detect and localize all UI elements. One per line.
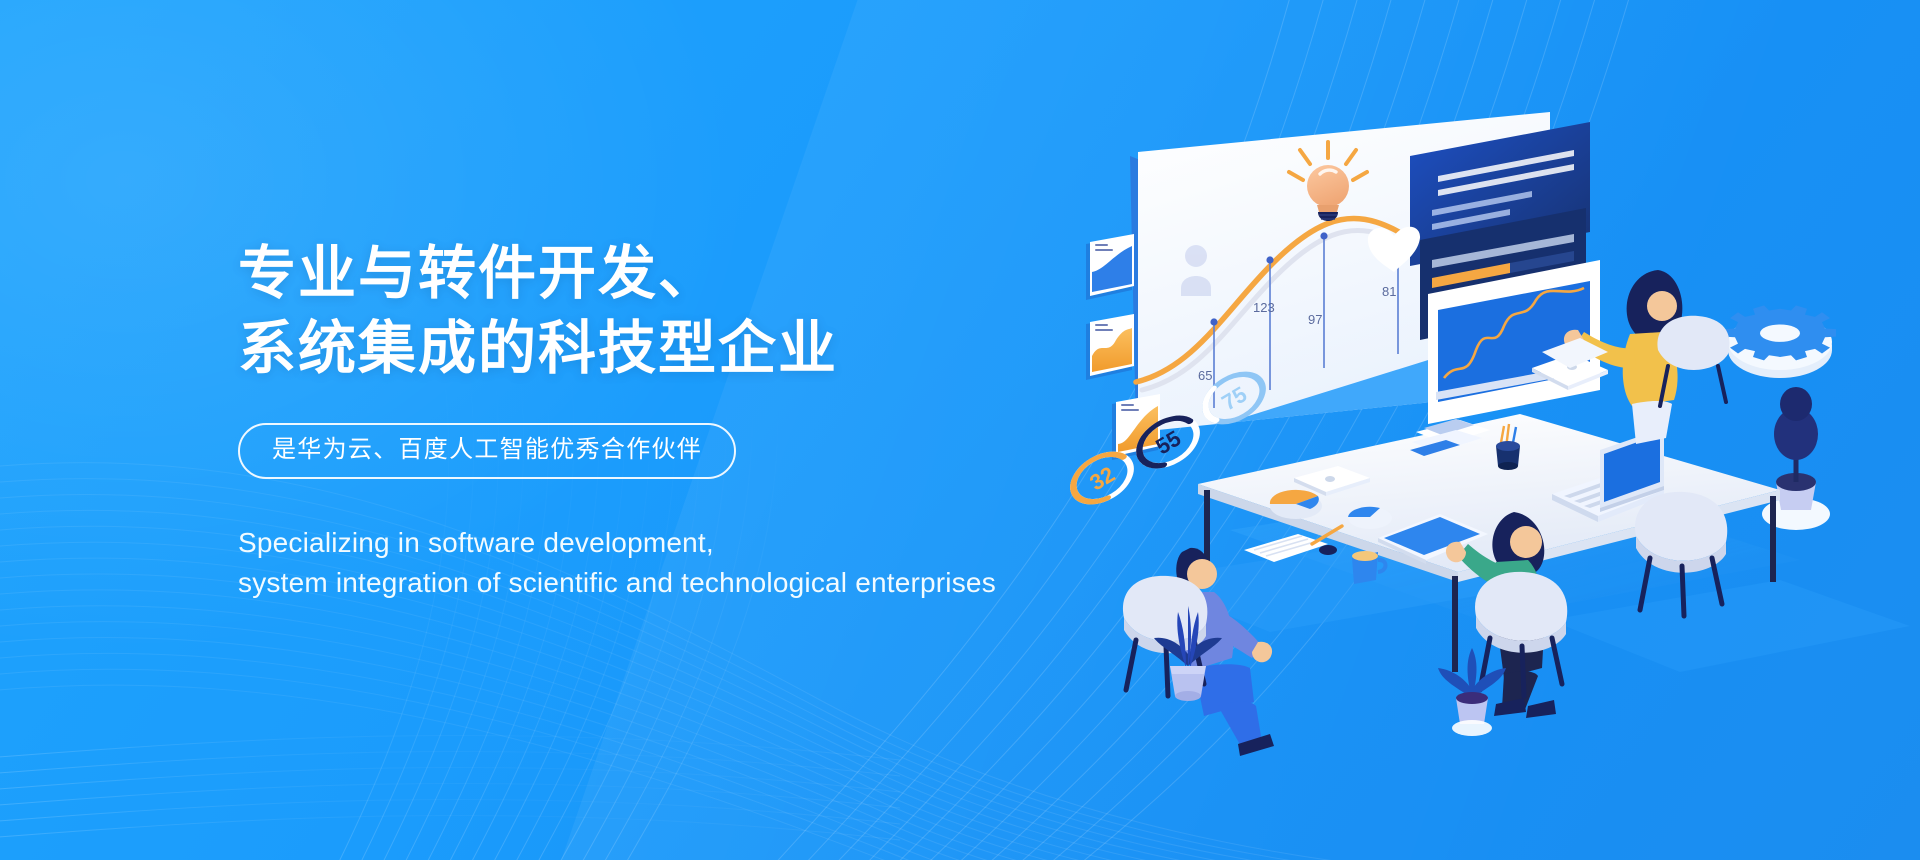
subtitle-block: Specializing in software development, sy… — [238, 523, 1158, 603]
hero-copy: 专业与转件开发、 系统集成的科技型企业 是华为云、百度人工智能优秀合作伙伴 Sp… — [238, 236, 1158, 603]
chart-label-1: 123 — [1253, 300, 1275, 315]
chart-label-0: 65 — [1198, 368, 1212, 383]
gear-icon — [1724, 305, 1836, 378]
chart-label-2: 97 — [1308, 312, 1322, 327]
headline-line-2: 系统集成的科技型企业 — [238, 311, 1158, 386]
subtitle-line-2: system integration of scientific and tec… — [238, 563, 1158, 603]
subtitle-line-1: Specializing in software development, — [238, 523, 1158, 563]
headline-line-1: 专业与转件开发、 — [238, 236, 1158, 311]
hero-banner: 专业与转件开发、 系统集成的科技型企业 是华为云、百度人工智能优秀合作伙伴 Sp… — [0, 0, 1920, 860]
partner-badge[interactable]: 是华为云、百度人工智能优秀合作伙伴 — [238, 423, 736, 479]
pie-chart-small-1 — [1270, 490, 1322, 519]
isometric-team-dashboard-illustration: 65 123 97 81 — [1080, 60, 1920, 760]
chart-label-3: 81 — [1382, 284, 1396, 299]
potted-plant-2 — [1438, 648, 1506, 736]
